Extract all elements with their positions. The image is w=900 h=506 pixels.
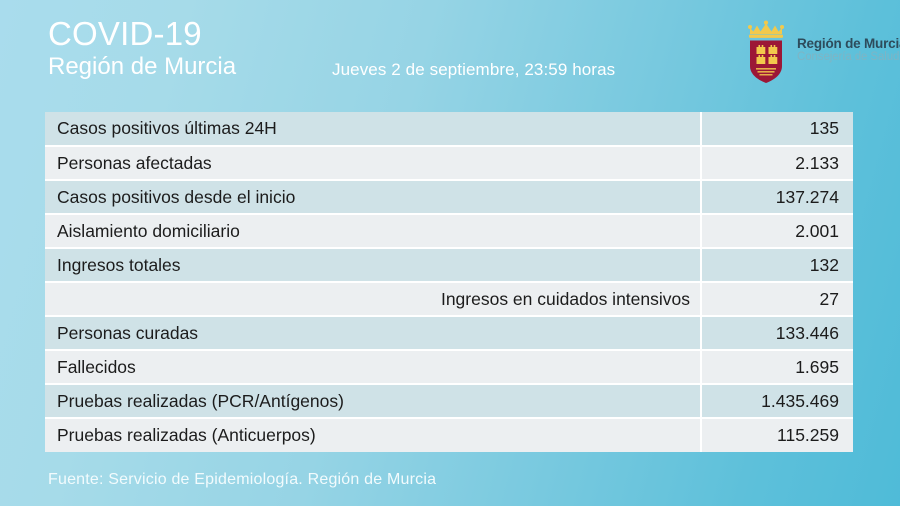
page-subtitle: Región de Murcia — [48, 53, 236, 81]
stat-value: 135 — [701, 112, 853, 146]
stat-value: 137.274 — [701, 180, 853, 214]
stat-value: 1.695 — [701, 350, 853, 384]
table-row: Casos positivos desde el inicio137.274 — [45, 180, 853, 214]
logo-text: Región de Murcia Consejería de Salud — [797, 36, 900, 68]
stat-label: Aislamiento domiciliario — [45, 214, 701, 248]
page-header: COVID-19 Región de Murcia Jueves 2 de se… — [0, 0, 900, 112]
report-datestamp: Jueves 2 de septiembre, 23:59 horas — [332, 60, 615, 80]
table-body: Casos positivos últimas 24H135Personas a… — [45, 112, 853, 452]
stat-label: Personas afectadas — [45, 146, 701, 180]
stat-label: Casos positivos desde el inicio — [45, 180, 701, 214]
stat-value: 2.001 — [701, 214, 853, 248]
page-title: COVID-19 — [48, 16, 236, 52]
stat-label: Pruebas realizadas (PCR/Antígenos) — [45, 384, 701, 418]
table-row: Pruebas realizadas (PCR/Antígenos)1.435.… — [45, 384, 853, 418]
stat-label: Personas curadas — [45, 316, 701, 350]
table-row: Casos positivos últimas 24H135 — [45, 112, 853, 146]
table-row: Pruebas realizadas (Anticuerpos)115.259 — [45, 418, 853, 452]
stat-value: 1.435.469 — [701, 384, 853, 418]
source-footer: Fuente: Servicio de Epidemiología. Regió… — [48, 471, 436, 489]
table-row: Personas curadas133.446 — [45, 316, 853, 350]
table-row: Ingresos en cuidados intensivos27 — [45, 282, 853, 316]
table-row: Fallecidos1.695 — [45, 350, 853, 384]
stat-value: 2.133 — [701, 146, 853, 180]
title-block: COVID-19 Región de Murcia — [48, 16, 236, 80]
stat-value: 27 — [701, 282, 853, 316]
stat-value: 132 — [701, 248, 853, 282]
coat-of-arms-icon — [742, 19, 790, 85]
stat-label: Pruebas realizadas (Anticuerpos) — [45, 418, 701, 452]
stat-label: Ingresos en cuidados intensivos — [45, 282, 701, 316]
covid-statistics-table: Casos positivos últimas 24H135Personas a… — [45, 112, 853, 452]
stat-value: 133.446 — [701, 316, 853, 350]
stat-label: Ingresos totales — [45, 248, 701, 282]
table-row: Ingresos totales132 — [45, 248, 853, 282]
stat-value: 115.259 — [701, 418, 853, 452]
stat-label: Fallecidos — [45, 350, 701, 384]
table-row: Aislamiento domiciliario2.001 — [45, 214, 853, 248]
region-de-murcia-logo: Región de Murcia Consejería de Salud — [742, 16, 890, 88]
logo-secondary-label: Consejería de Salud — [797, 51, 900, 64]
table-row: Personas afectadas2.133 — [45, 146, 853, 180]
logo-primary-label: Región de Murcia — [797, 36, 900, 51]
stat-label: Casos positivos últimas 24H — [45, 112, 701, 146]
